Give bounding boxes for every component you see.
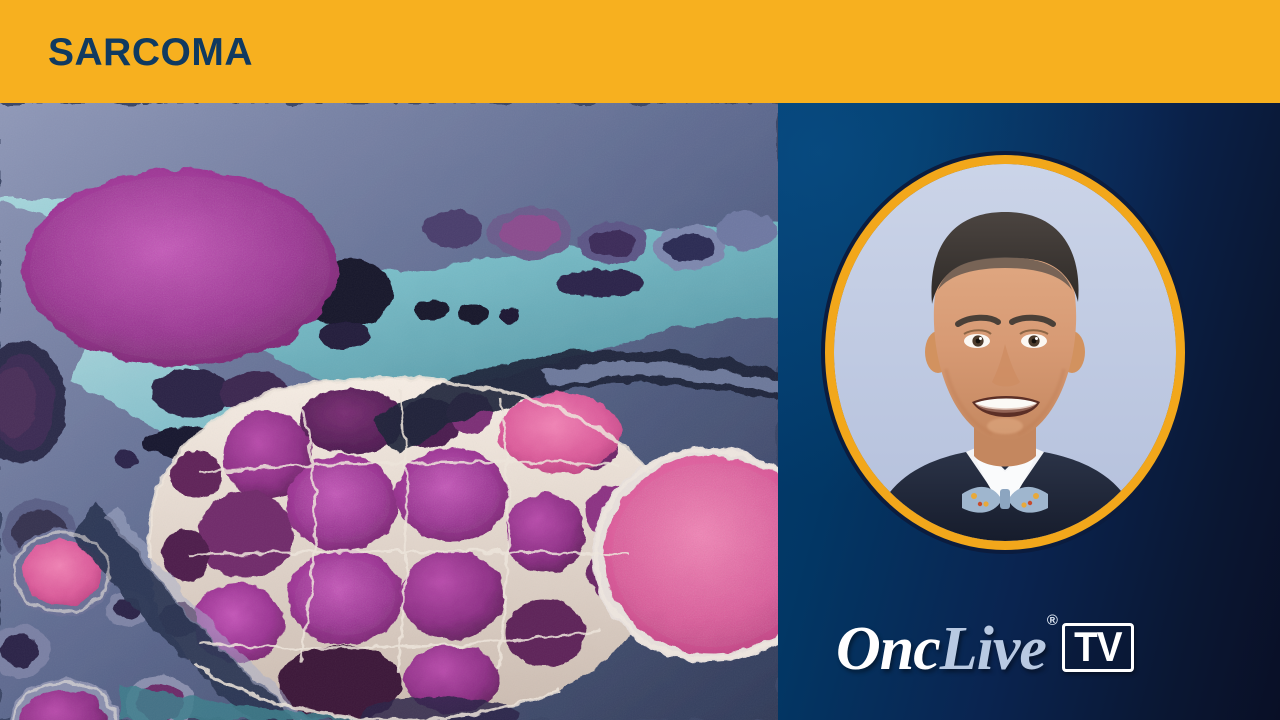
logo-wordmark: OncLive®: [836, 621, 1056, 678]
category-title: SARCOMA: [48, 33, 253, 72]
portrait-medallion: [825, 155, 1185, 550]
registered-trademark-icon: ®: [1047, 612, 1057, 629]
logo-onc-text: Onc: [836, 615, 940, 683]
histology-artwork: [0, 103, 778, 720]
onclive-tv-logo[interactable]: OncLive® TV: [836, 598, 1236, 678]
logo-live-text: Live: [940, 615, 1046, 683]
histology-artwork-graphic: [0, 103, 778, 720]
logo-tv-text: TV: [1074, 628, 1122, 666]
brand-panel: OncLive® TV: [778, 103, 1280, 720]
category-banner: SARCOMA: [0, 0, 1280, 103]
video-thumbnail-slate: SARCOMA: [0, 0, 1280, 720]
medallion-gold-ring: [825, 155, 1185, 550]
logo-tv-badge: TV: [1062, 623, 1134, 672]
